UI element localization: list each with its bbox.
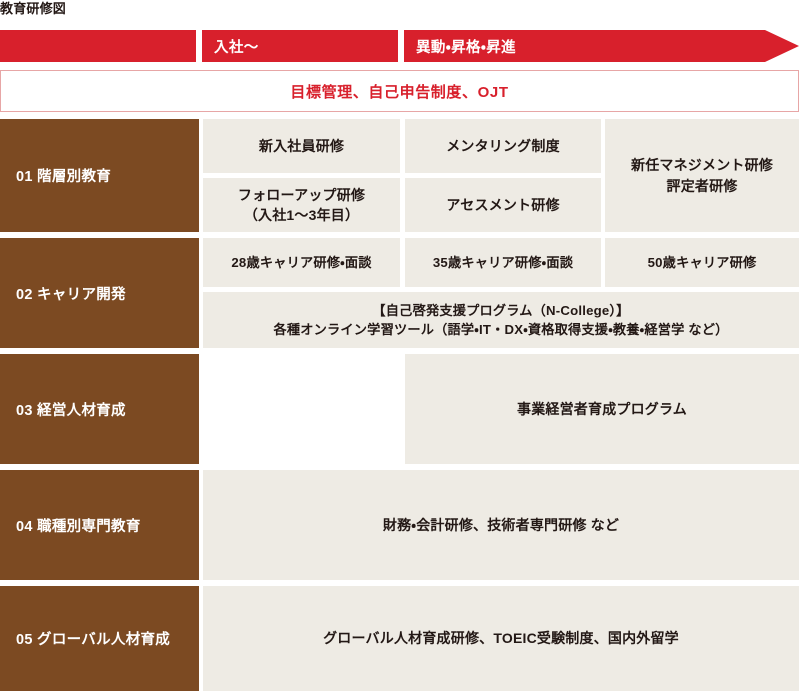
header-blank-segment [0,30,196,62]
cell-line-2: （入社1〜3年目） [238,205,365,225]
cell-assessment-training: アセスメント研修 [405,178,601,232]
cell-global-training: グローバル人材育成研修、TOEIC受験制度、国内外留学 [203,586,799,691]
cell-line-1: フォローアップ研修 [238,185,365,205]
row-label-specialist-education: 04 職種別専門教育 [0,470,199,580]
cell-career-training-28: 28歳キャリア研修・面談 [203,238,400,287]
cell-career-training-35: 35歳キャリア研修・面談 [405,238,601,287]
cell-career-training-50: 50歳キャリア研修 [605,238,799,287]
cell-mentoring-system: メンタリング制度 [405,119,601,173]
cell-line-2: 各種オンライン学習ツール（語学・IT・DX・資格取得支援・教養・経営学 など） [273,320,728,339]
cell-follow-up-training: フォローアップ研修 （入社1〜3年目） [203,178,400,232]
row-label-hierarchical-education: 01 階層別教育 [0,119,199,232]
cell-n-college-program: 【自己啓発支援プログラム（N-College）】 各種オンライン学習ツール（語学… [203,292,799,348]
header-progression-arrow: 異動・昇格・昇進 [404,30,799,62]
row-label-global-talent: 05 グローバル人材育成 [0,586,199,691]
cell-line-1: 新任マネジメント研修 [631,155,773,175]
training-diagram-page: 教育研修図 入社〜 異動・昇格・昇進 目標管理、自己申告制度、OJT 01 階層… [0,0,799,691]
header-entry-segment: 入社〜 [202,30,398,62]
row-label-career-development: 02 キャリア開発 [0,238,199,348]
cell-business-leader-program: 事業経営者育成プログラム [405,354,799,464]
cell-line-2: 評定者研修 [631,176,773,196]
cell-line-1: 【自己啓発支援プログラム（N-College）】 [273,301,728,320]
cell-specialist-training: 財務・会計研修、技術者専門研修 など [203,470,799,580]
ojt-band-text: 目標管理、自己申告制度、OJT [290,81,508,102]
cell-new-employee-training: 新入社員研修 [203,119,400,173]
ojt-band: 目標管理、自己申告制度、OJT [0,70,799,112]
row-label-management-talent: 03 経営人材育成 [0,354,199,464]
cell-new-manager-training: 新任マネジメント研修 評定者研修 [605,119,799,232]
page-title: 教育研修図 [0,0,300,20]
